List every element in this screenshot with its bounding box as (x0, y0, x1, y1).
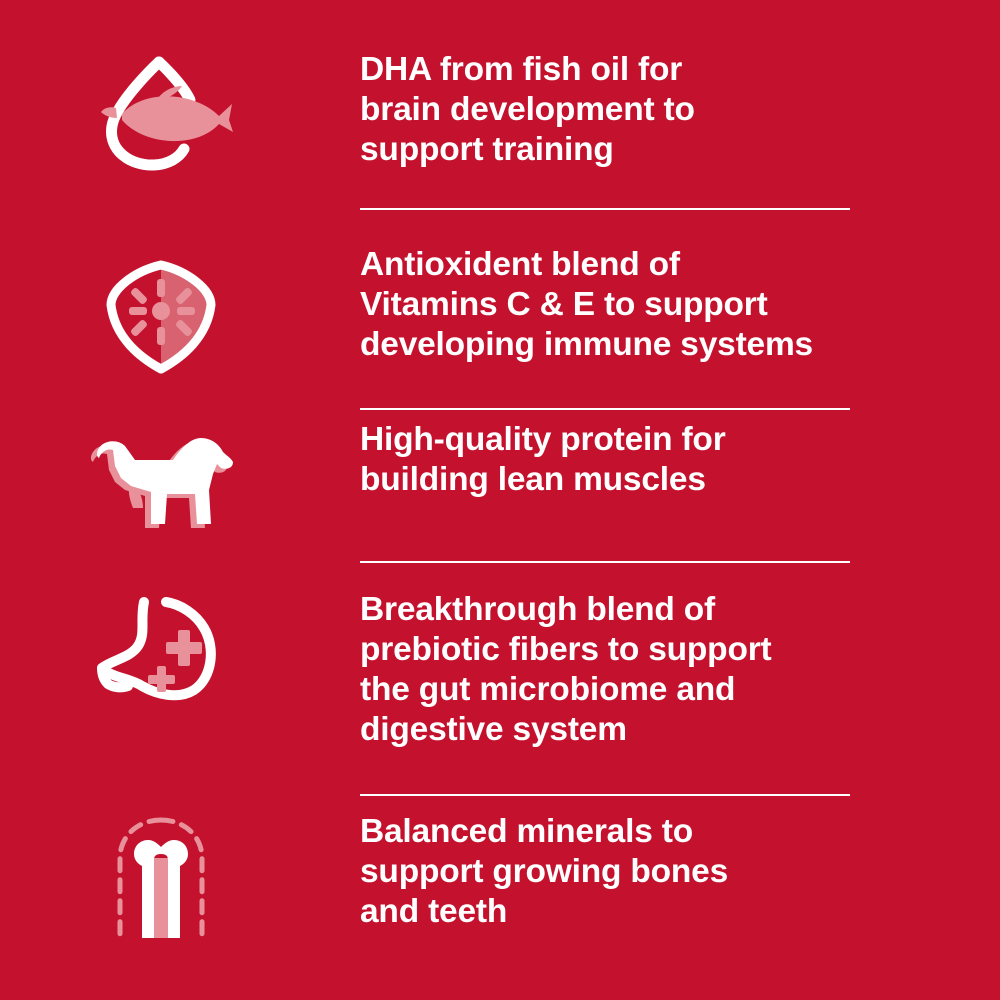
benefit-row: DHA from fish oil for brain development … (0, 50, 1000, 175)
shield-antioxidant-icon (0, 245, 360, 385)
benefit-text-cell: Balanced minerals to support growing bon… (360, 812, 1000, 932)
divider-after-prebiotic (360, 794, 850, 796)
benefit-text: Balanced minerals to support growing bon… (360, 812, 870, 932)
benefit-row: High-quality protein for building lean m… (0, 420, 1000, 540)
benefit-text-cell: Breakthrough blend of prebiotic fibers t… (360, 590, 1000, 750)
benefit-text: Breakthrough blend of prebiotic fibers t… (360, 590, 870, 750)
divider-after-antioxidant (360, 408, 850, 410)
benefit-row: Breakthrough blend of prebiotic fibers t… (0, 590, 1000, 750)
benefit-row: Balanced minerals to support growing bon… (0, 812, 1000, 942)
divider-after-protein (360, 561, 850, 563)
benefit-text: DHA from fish oil for brain development … (360, 50, 870, 170)
benefit-text-cell: DHA from fish oil for brain development … (360, 50, 1000, 170)
benefit-row: Antioxident blend of Vitamins C & E to s… (0, 245, 1000, 385)
bone-minerals-icon (0, 812, 360, 942)
benefit-text: Antioxident blend of Vitamins C & E to s… (360, 245, 870, 365)
divider-after-dha (360, 208, 850, 210)
stomach-digestive-icon (0, 590, 360, 715)
benefit-text: High-quality protein for building lean m… (360, 420, 870, 500)
fish-oil-droplet-icon (0, 50, 360, 175)
benefit-text-cell: High-quality protein for building lean m… (360, 420, 1000, 500)
dog-muscle-icon (0, 420, 360, 540)
benefit-text-cell: Antioxident blend of Vitamins C & E to s… (360, 245, 1000, 365)
benefits-infographic: DHA from fish oil for brain development … (0, 0, 1000, 1000)
